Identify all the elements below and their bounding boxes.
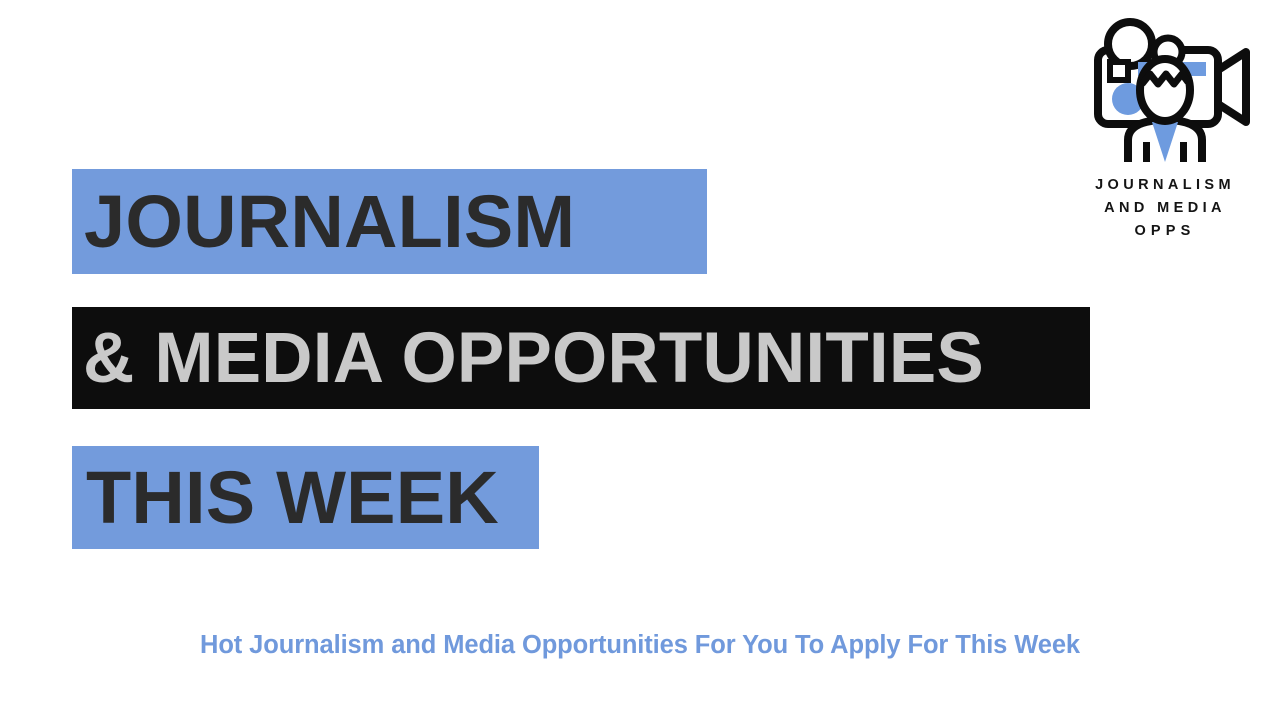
headline-bar-media-opportunities: & MEDIA OPPORTUNITIES [72, 307, 1090, 409]
brand-logo: JOURNALISM AND MEDIA OPPS [1062, 12, 1268, 240]
wordmark-line-2: AND MEDIA [1062, 197, 1268, 220]
wordmark-line-3: OPPS [1062, 220, 1268, 243]
headline-line-2: & MEDIA OPPORTUNITIES [83, 323, 984, 394]
headline-line-1: JOURNALISM [84, 185, 575, 259]
slide-canvas: JOURNALISM AND MEDIA OPPS JOURNALISM & M… [0, 0, 1280, 720]
wordmark-line-1: JOURNALISM [1062, 174, 1268, 197]
subtitle-text: Hot Journalism and Media Opportunities F… [0, 631, 1280, 660]
video-camera-reporter-icon [1080, 12, 1250, 162]
headline-bar-this-week: THIS WEEK [72, 446, 539, 549]
headline-bar-journalism: JOURNALISM [72, 169, 707, 274]
headline-line-3: THIS WEEK [86, 461, 499, 535]
brand-wordmark: JOURNALISM AND MEDIA OPPS [1062, 174, 1268, 243]
